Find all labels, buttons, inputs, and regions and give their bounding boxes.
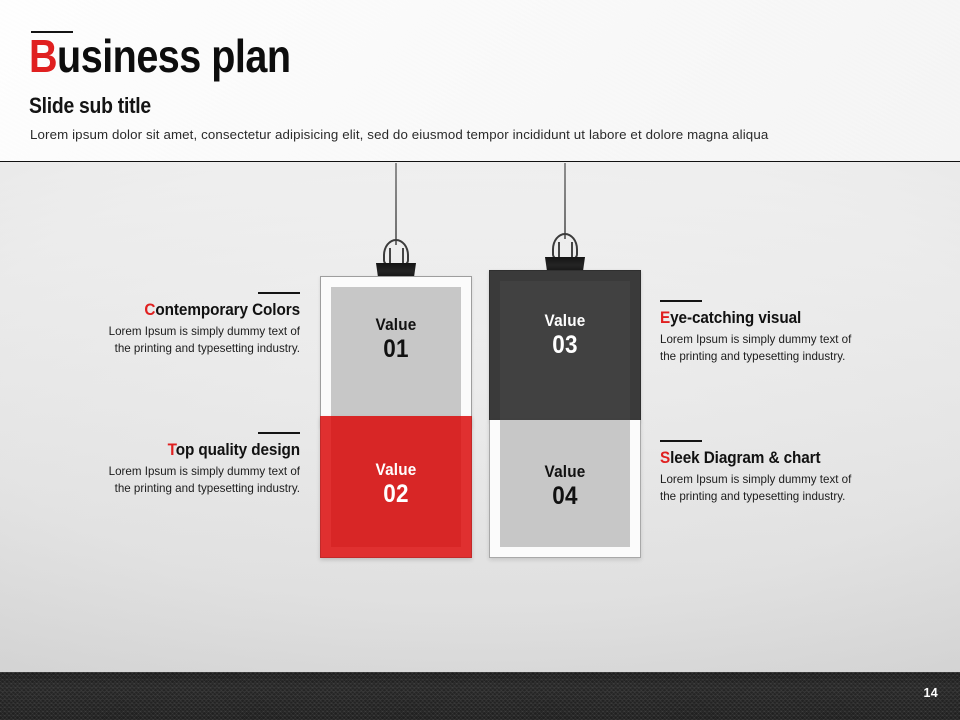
page-title-rest: usiness plan [57,30,290,82]
feature-heading: Sleek Diagram & chart [660,448,849,468]
page-title-accent-letter: B [29,30,57,82]
slide-body [0,162,960,672]
feature-heading: Top quality design [111,440,300,460]
page-title: Business plan [29,32,291,80]
feature-heading-accent-letter: S [660,448,670,467]
value-card-03-number: 03 [498,331,633,360]
feature-description: Lorem Ipsum is simply dummy text of the … [90,324,300,358]
feature-accent-rule [660,440,702,442]
value-card-04-word: Value [498,462,633,482]
feature-description: Lorem Ipsum is simply dummy text of the … [660,472,870,506]
page-number: 14 [923,686,938,700]
feature-heading-accent-letter: C [144,300,155,319]
value-card-03[interactable]: Value 03 [489,270,641,422]
value-card-02-number: 02 [329,480,464,509]
slide: Business plan Slide sub title Lorem ipsu… [0,0,960,720]
feature-heading-rest: ontemporary Colors [155,300,300,319]
value-card-02[interactable]: Value 02 [320,416,472,558]
value-card-01-word: Value [329,315,464,335]
lead-paragraph: Lorem ipsum dolor sit amet, consectetur … [30,127,768,142]
feature-heading: Eye-catching visual [660,308,849,328]
hanging-thread-left [395,163,397,245]
value-card-03-word: Value [498,311,633,331]
value-card-02-word: Value [329,460,464,480]
slide-footer: 14 [0,672,960,720]
page-subtitle: Slide sub title [29,93,151,119]
value-card-04-number: 04 [498,482,633,511]
feature-heading-accent-letter: E [660,308,670,327]
feature-description: Lorem Ipsum is simply dummy text of the … [90,464,300,498]
feature-heading: Contemporary Colors [111,300,300,320]
feature-heading-rest: leek Diagram & chart [670,448,820,467]
feature-heading-accent-letter: T [168,440,176,459]
value-card-04[interactable]: Value 04 [489,420,641,558]
feature-description: Lorem Ipsum is simply dummy text of the … [660,332,870,366]
value-card-01[interactable]: Value 01 [320,276,472,428]
feature-accent-rule [258,292,300,294]
feature-accent-rule [258,432,300,434]
feature-heading-rest: op quality design [176,440,300,459]
hanging-thread-right [564,163,566,239]
feature-accent-rule [660,300,702,302]
feature-heading-rest: ye-catching visual [670,308,801,327]
slide-header: Business plan Slide sub title Lorem ipsu… [0,0,960,162]
value-card-01-number: 01 [329,335,464,364]
